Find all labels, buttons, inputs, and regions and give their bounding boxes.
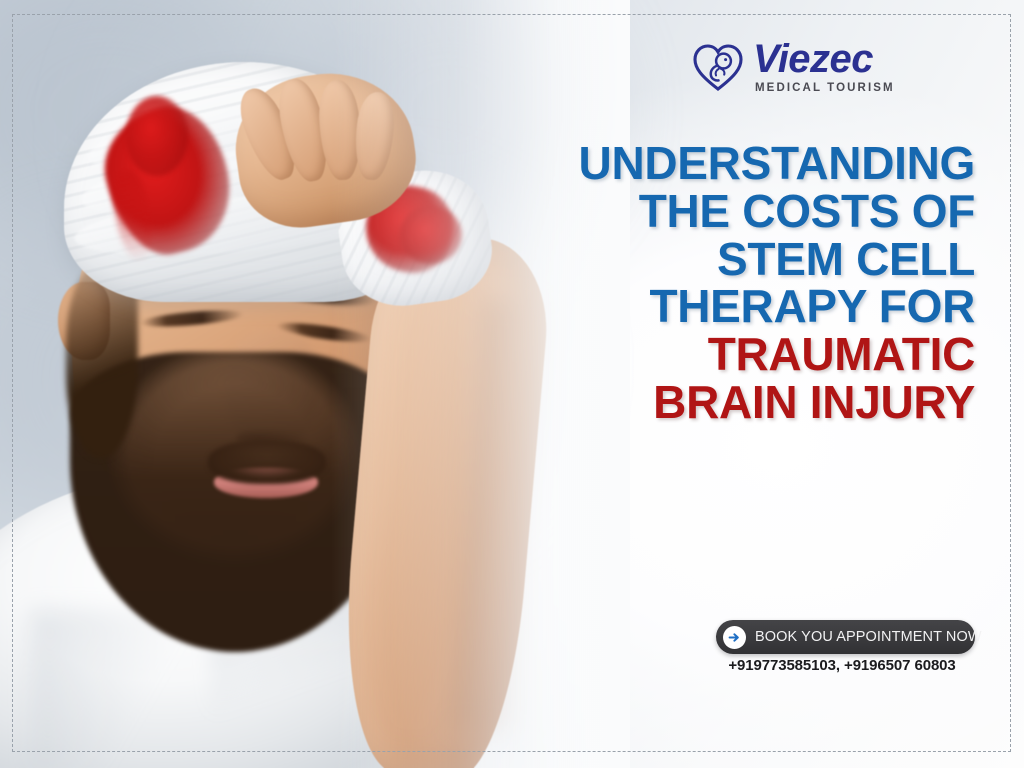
headline-line: STEM CELL (515, 236, 975, 284)
headline-line: THERAPY FOR (515, 283, 975, 331)
headline-line: THE COSTS OF (515, 188, 975, 236)
arrow-right-icon (723, 626, 746, 649)
blood-stain (126, 96, 188, 176)
moustache (208, 440, 326, 484)
heart-fetus-icon (692, 41, 744, 93)
shirt-fold (30, 610, 180, 768)
headline-line-accent: TRAUMATIC (515, 331, 975, 379)
book-appointment-label: BOOK YOU APPOINTMENT NOW (755, 629, 982, 645)
headline-line-accent: BRAIN INJURY (515, 379, 975, 427)
brand-name: Viezec (753, 40, 873, 79)
brand-logo[interactable]: Viezec MEDICAL TOURISM (692, 40, 895, 94)
brand-tagline: MEDICAL TOURISM (753, 82, 895, 94)
book-appointment-button[interactable]: BOOK YOU APPOINTMENT NOW (716, 620, 975, 654)
contact-phone-numbers[interactable]: +919773585103, +9196507 60803 (716, 657, 968, 674)
page-title: UNDERSTANDING THE COSTS OF STEM CELL THE… (515, 140, 975, 427)
promotional-banner: Viezec MEDICAL TOURISM UNDERSTANDING THE… (0, 0, 1024, 768)
blood-stain (400, 206, 462, 264)
headline-line: UNDERSTANDING (515, 140, 975, 188)
